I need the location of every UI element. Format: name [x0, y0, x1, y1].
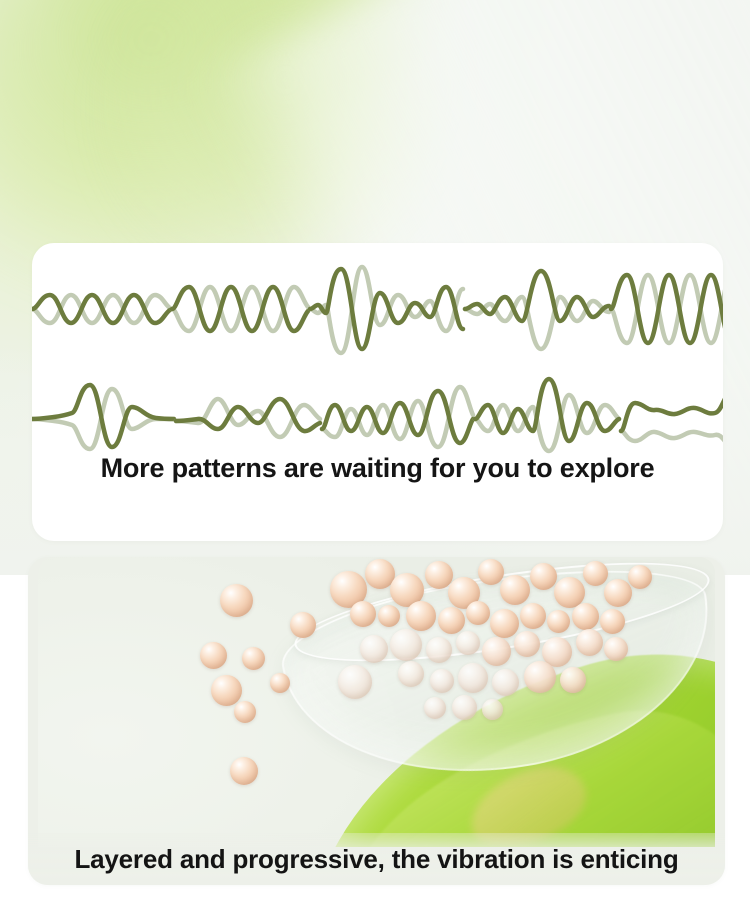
pearl-loose: [270, 673, 290, 693]
pearl-in-dish: [426, 637, 452, 663]
waveform-cell-6[interactable]: [32, 367, 176, 467]
waveform-rising-envelope-icon: [322, 382, 475, 452]
pearl-in-dish: [430, 669, 454, 693]
pearl-in-dish: [628, 565, 652, 589]
pearl-in-dish: [478, 559, 504, 585]
waveform-modulated-burst-icon: [310, 274, 465, 344]
waveform-center-peak-pulse-icon: [465, 274, 611, 344]
waveform-flat-top-ripple-icon: [621, 382, 723, 452]
pearl-in-dish: [524, 661, 556, 693]
pearl-in-dish: [360, 635, 388, 663]
pearl-loose: [200, 642, 227, 669]
waveform-single-spike-transient-icon: [32, 382, 176, 452]
pearl-in-dish: [490, 609, 519, 638]
product-detail-page: More patterns are waiting for you to exp…: [0, 0, 750, 921]
pearl-in-dish: [604, 579, 632, 607]
pearl-in-dish: [572, 603, 599, 630]
pearl-loose: [234, 701, 256, 723]
waveform-low-amplitude-sine-icon: [32, 279, 172, 339]
pearl-in-dish: [560, 667, 586, 693]
waveform-cell-7[interactable]: [176, 367, 322, 467]
waveform-cell-4[interactable]: [465, 259, 611, 359]
pearl-loose: [220, 584, 253, 617]
pearl-in-dish: [530, 563, 557, 590]
waveform-high-amplitude-dense-icon: [611, 274, 723, 344]
pearl-in-dish: [452, 695, 477, 720]
waveform-gallery-card: More patterns are waiting for you to exp…: [32, 243, 723, 541]
wave-secondary-path: [465, 297, 609, 349]
pearl-in-dish: [500, 575, 530, 605]
waveform-row-1: [32, 259, 723, 359]
pearl-in-dish: [350, 601, 376, 627]
pearl-in-dish: [492, 669, 519, 696]
pearl-in-dish: [520, 603, 546, 629]
pearl-in-dish: [600, 609, 625, 634]
waveform-cell-5[interactable]: [611, 259, 723, 359]
pearl-loose: [242, 647, 265, 670]
pearl-in-dish: [482, 699, 503, 720]
waveform-card-caption: More patterns are waiting for you to exp…: [32, 453, 723, 484]
pearl-in-dish: [576, 629, 603, 656]
pearl-in-dish: [482, 637, 511, 666]
pearl-loose: [230, 757, 258, 785]
wave-primary-path: [176, 399, 320, 431]
pearl-in-dish: [438, 607, 465, 634]
wave-primary-path: [32, 385, 174, 447]
pearl-loose: [290, 612, 316, 638]
pearl-in-dish: [338, 665, 372, 699]
pearl-in-dish: [604, 637, 628, 661]
wave-primary-path: [465, 271, 609, 321]
waveform-medium-amplitude-sine-icon: [172, 279, 310, 339]
pearl-in-dish: [378, 605, 400, 627]
waveform-cell-10[interactable]: [621, 367, 723, 467]
pearl-in-dish: [456, 631, 480, 655]
product-photo-card: Layered and progressive, the vibration i…: [28, 557, 725, 885]
waveform-grid: [32, 259, 723, 467]
pearl-in-dish: [583, 561, 608, 586]
waveform-peaked-center-cluster-icon: [475, 382, 621, 452]
pearl-in-dish: [398, 661, 424, 687]
waveform-cell-3[interactable]: [310, 259, 465, 359]
wave-secondary-path: [621, 399, 723, 447]
pearl-in-dish: [514, 631, 540, 657]
waveform-cell-9[interactable]: [475, 367, 621, 467]
pearl-in-dish: [406, 601, 436, 631]
photo-card-caption: Layered and progressive, the vibration i…: [28, 833, 725, 885]
pearl-in-dish: [466, 601, 490, 625]
pearl-loose: [211, 675, 242, 706]
waveform-cell-1[interactable]: [32, 259, 172, 359]
pearl-in-dish: [547, 610, 570, 633]
waveform-cell-2[interactable]: [172, 259, 310, 359]
waveform-asymmetric-swell-icon: [176, 382, 322, 452]
product-photo-scene: [38, 557, 715, 847]
pearl-in-dish: [424, 697, 446, 719]
waveform-row-2: [32, 367, 723, 467]
pearl-in-dish: [390, 629, 422, 661]
waveform-cell-8[interactable]: [322, 367, 475, 467]
pearl-in-dish: [458, 663, 488, 693]
